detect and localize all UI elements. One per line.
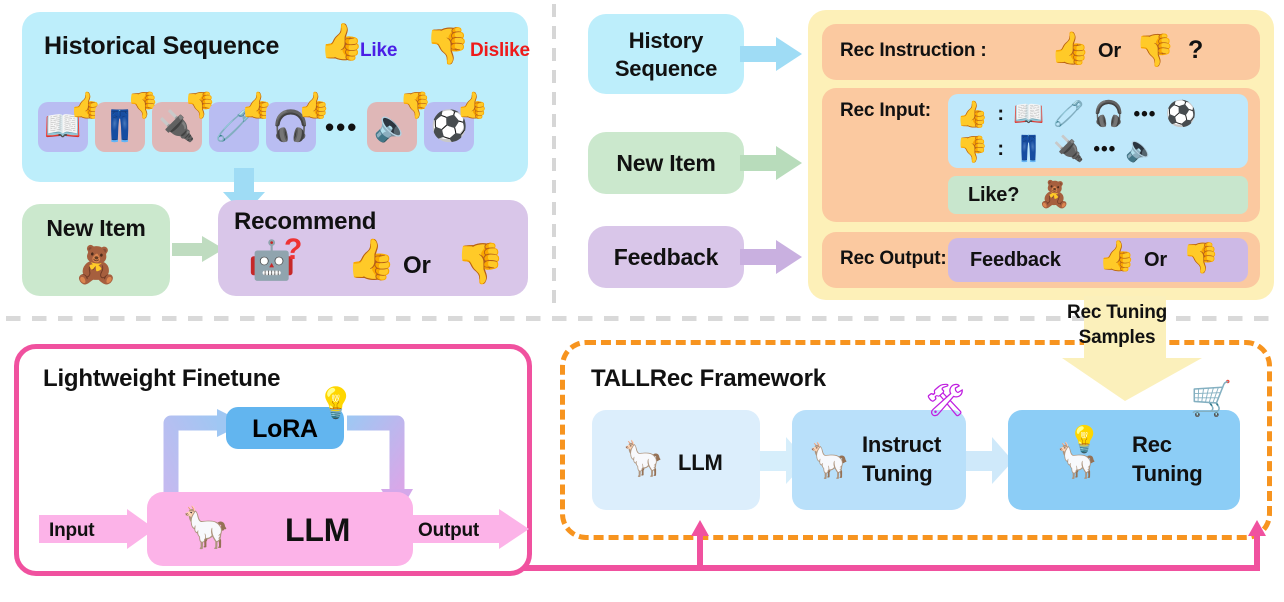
thumbs-down-icon: 👎 <box>425 28 470 64</box>
new-item-to-recommend-arrow <box>172 236 222 262</box>
teddy-bear-icon: 🧸 <box>1038 181 1070 207</box>
input-arrow: Input <box>39 509 155 549</box>
thumbs-up-icon: 👍 <box>319 24 364 60</box>
rec-instruction-or-label: Or <box>1098 40 1121 63</box>
thumbs-down-icon: 👎 <box>956 136 988 162</box>
source-box-list: History SequenceNew ItemFeedback <box>588 14 808 304</box>
ellipsis-icon: ••• <box>1093 140 1116 159</box>
vertical-divider <box>552 4 556 304</box>
rec-input-target-label: Like? <box>968 184 1019 207</box>
thumbs-down-icon: 👎 <box>1182 244 1219 274</box>
stage-rec-tuning: 🦙 💡 Rec Tuning <box>1008 410 1240 510</box>
history-item-hanger[interactable]: 🧷👍 <box>209 102 259 152</box>
headphones-icon: 🎧 <box>1093 102 1124 127</box>
wrench-icon: 🛠 <box>925 384 966 416</box>
rec-tuning-samples-label: Rec Tuning Samples <box>1062 300 1172 350</box>
teddy-bear-icon: 🧸 <box>22 247 170 283</box>
new-item-box: New Item 🧸 <box>22 204 170 296</box>
stage-instruct-tuning-label: Instruct Tuning <box>862 430 962 488</box>
feedback-box-label: Feedback <box>588 243 744 271</box>
new-item-box-label: New Item <box>588 149 744 177</box>
thumbs-up-icon: 👍 <box>956 101 988 127</box>
thumbs-down-icon: 👎 <box>1135 34 1175 66</box>
recommend-or-label: Or <box>403 252 431 280</box>
llama-icon: 🦙 <box>181 508 231 548</box>
row-separator: : <box>997 138 1004 161</box>
stage-instruct-tuning: 🦙 Instruct Tuning <box>792 410 966 510</box>
output-arrow: Output <box>407 509 529 549</box>
input-label: Input <box>49 520 94 542</box>
llm-label: LLM <box>285 512 350 549</box>
llama-icon: 🦙 <box>622 442 664 476</box>
rec-sample-panel: Rec Instruction : 👍 Or 👎 ? Rec Input: 👍:… <box>808 10 1274 300</box>
new-item-box: New Item <box>588 132 744 194</box>
diagram-canvas: Historical Sequence 👍 Like 👎 Dislike 📖👍👖… <box>0 0 1284 602</box>
historical-item-list: 📖👍👖👎🔌👎🧷👍🎧👍•••🔈👎⚽👍 <box>38 97 518 157</box>
lightbulb-icon: 💡 <box>317 389 354 419</box>
rec-input-dislike-row: 👎:👖🔌•••🔈 <box>956 132 1246 166</box>
history-item-jeans[interactable]: 👖👎 <box>95 102 145 152</box>
history-sequence-box-label: History Sequence <box>588 27 744 83</box>
rec-input-row: Rec Input: 👍:📖🧷🎧•••⚽ 👎:👖🔌•••🔈 Like? 🧸 <box>822 88 1260 222</box>
output-label: Output <box>418 520 479 542</box>
question-mark-glyph: ? <box>284 233 302 267</box>
tallrec-framework-title: TALLRec Framework <box>591 365 826 393</box>
lightweight-finetune-title: Lightweight Finetune <box>43 365 280 393</box>
history-item-soccer-ball[interactable]: ⚽👍 <box>424 102 474 152</box>
history-item-headphones[interactable]: 🎧👍 <box>266 102 316 152</box>
lightbulb-icon: 💡 <box>1068 426 1100 452</box>
feedback-box-arrow <box>740 240 802 274</box>
history-sequence-box: History Sequence <box>588 14 744 94</box>
dislike-legend-label: Dislike <box>470 40 530 62</box>
historical-sequence-title: Historical Sequence <box>44 32 279 61</box>
cable-icon: 🔌 <box>1053 137 1084 162</box>
rec-input-like-row: 👍:📖🧷🎧•••⚽ <box>956 97 1246 131</box>
rec-instruction-question: ? <box>1188 36 1203 65</box>
thumbs-up-icon: 👍 <box>346 240 396 280</box>
feedback-box: Feedback <box>588 226 744 288</box>
rec-output-value-box: Feedback 👍 Or 👎 <box>948 238 1248 282</box>
jeans-icon: 👖 <box>1013 137 1044 162</box>
row-separator: : <box>997 103 1004 126</box>
stage-rec-tuning-label: Rec Tuning <box>1132 430 1228 488</box>
rec-input-target-row: Like? 🧸 <box>948 176 1248 214</box>
rec-input-sequence-box: 👍:📖🧷🎧•••⚽ 👎:👖🔌•••🔈 <box>948 94 1248 168</box>
lightweight-finetune-panel: Lightweight Finetune LoRA 💡 <box>14 344 532 576</box>
rec-output-row: Rec Output: Feedback 👍 Or 👎 <box>822 232 1260 288</box>
stage-llm-label: LLM <box>678 450 723 476</box>
recommend-box: Recommend 🤖 ? 👍 Or 👎 <box>218 200 528 296</box>
book-icon: 📖 <box>1013 102 1044 127</box>
instruct-to-rec-arrow <box>966 437 1014 485</box>
rec-input-label: Rec Input: <box>840 100 931 122</box>
thumbs-up-icon: 👍 <box>1098 242 1135 272</box>
soccer-ball-icon: ⚽ <box>1165 102 1196 127</box>
rec-output-value: Feedback <box>970 249 1061 272</box>
finetune-feedback-connector <box>500 520 1280 590</box>
ellipsis-icon: ••• <box>1133 105 1156 124</box>
cart-icon: 🛒 <box>1190 382 1232 416</box>
history-item-cable[interactable]: 🔌👎 <box>152 102 202 152</box>
stage-llm: 🦙 LLM <box>592 410 760 510</box>
rec-instruction-label: Rec Instruction : <box>840 40 987 62</box>
speaker-icon: 🔈 <box>1125 137 1156 162</box>
rec-output-or-label: Or <box>1144 249 1167 272</box>
llm-box: 🦙 LLM <box>147 492 413 566</box>
history-item-book[interactable]: 📖👍 <box>38 102 88 152</box>
rec-tuning-samples-label-group: Rec Tuning Samples <box>1062 300 1172 350</box>
historical-sequence-panel: Historical Sequence 👍 Like 👎 Dislike 📖👍👖… <box>22 12 528 182</box>
rec-output-label: Rec Output: <box>840 248 947 270</box>
thumbs-up-icon: 👍 <box>298 92 330 118</box>
recommend-label: Recommend <box>234 208 376 236</box>
thumbs-up-icon: 👍 <box>1050 32 1090 64</box>
thumbs-down-icon: 👎 <box>455 244 505 284</box>
llama-icon: 🦙 <box>808 444 850 478</box>
history-item-speaker[interactable]: 🔈👎 <box>367 102 417 152</box>
like-legend-label: Like <box>360 40 397 62</box>
new-item-box-arrow <box>740 146 802 180</box>
thumbs-up-icon: 👍 <box>456 92 488 118</box>
new-item-label: New Item <box>22 215 170 242</box>
rec-instruction-row: Rec Instruction : 👍 Or 👎 ? <box>822 24 1260 80</box>
hanger-icon: 🧷 <box>1053 102 1084 127</box>
history-sequence-box-arrow <box>740 37 802 71</box>
